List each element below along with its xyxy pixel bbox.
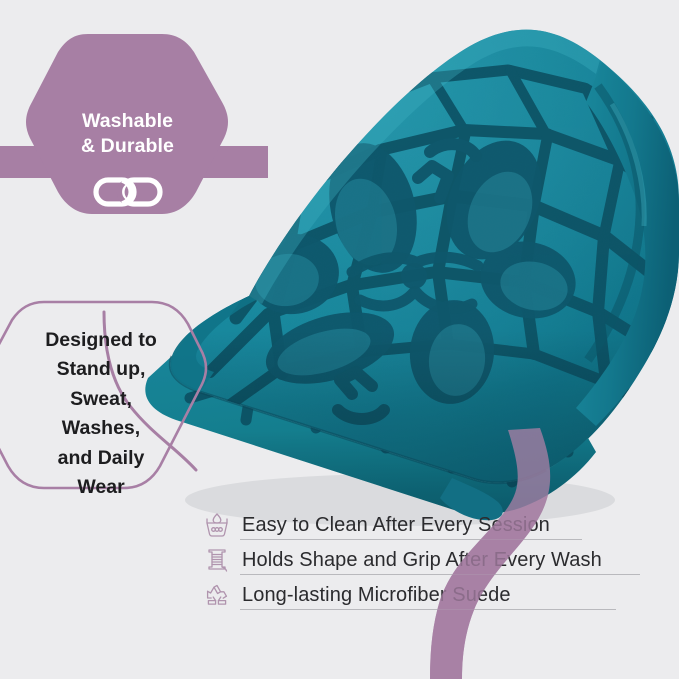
wash-basin-icon <box>200 510 234 540</box>
feature-row-easy-to-clean: Easy to Clean After Every Session <box>200 508 640 542</box>
feature-underline <box>240 539 582 540</box>
feature-underline <box>240 609 616 610</box>
feature-label: Holds Shape and Grip After Every Wash <box>242 548 602 572</box>
recycle-icon <box>200 580 234 610</box>
feature-row-microfiber-suede: Long-lasting Microfiber Suede <box>200 578 640 612</box>
infographic-canvas: Washable & Durable Designed to Stand up,… <box>0 0 679 679</box>
callout-hexagon-outline <box>0 302 206 488</box>
feature-label: Long-lasting Microfiber Suede <box>242 583 511 607</box>
feature-list: Easy to Clean After Every Session <box>200 508 640 613</box>
feature-row-holds-shape: Holds Shape and Grip After Every Wash <box>200 543 640 577</box>
feature-underline <box>240 574 640 575</box>
thread-spool-icon <box>200 545 234 575</box>
feature-label: Easy to Clean After Every Session <box>242 513 550 537</box>
